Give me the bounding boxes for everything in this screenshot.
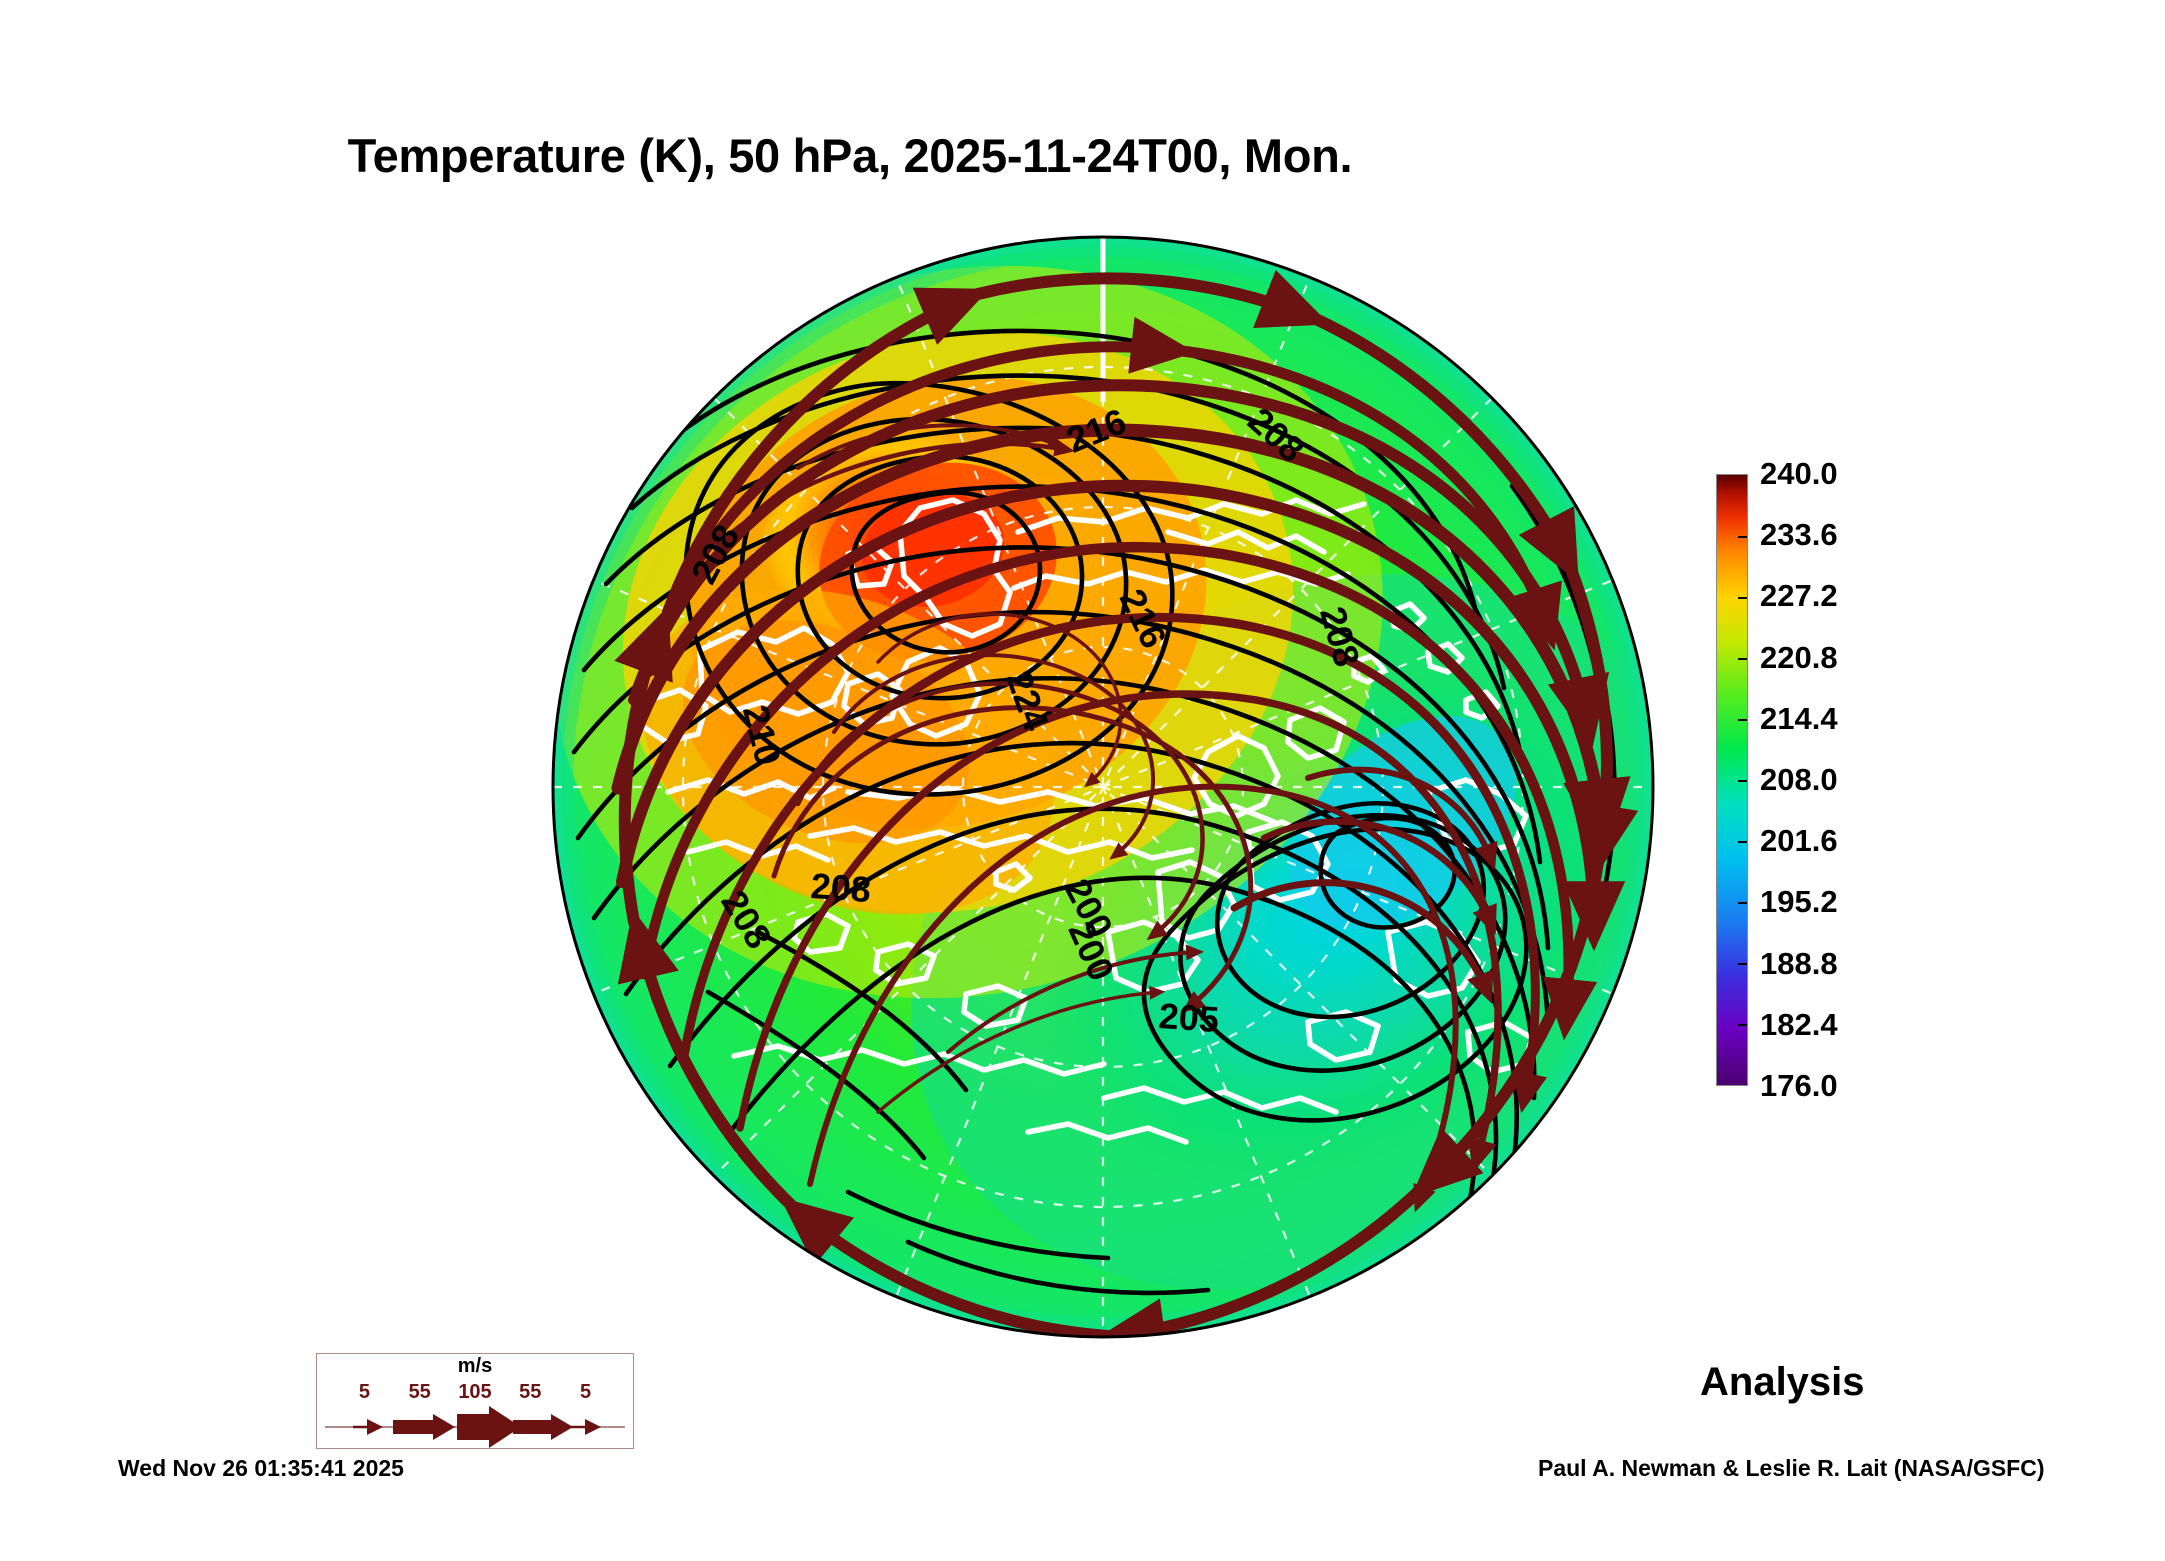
colorbar-tick <box>1738 780 1747 782</box>
colorbar-tick <box>1738 902 1747 904</box>
polar-map[interactable]: 2162162082082082082162162242242082082102… <box>548 232 1658 1342</box>
contour-label: 205 <box>1157 995 1220 1040</box>
wind-legend-value: 55 <box>519 1381 541 1404</box>
wind-units-label: m/s <box>317 1355 633 1378</box>
colorbar-label: 220.8 <box>1760 640 1838 676</box>
author-credit: Paul A. Newman & Leslie R. Lait (NASA/GS… <box>1538 1455 2045 1482</box>
colorbar-label: 214.4 <box>1760 701 1838 737</box>
wind-legend-value: 5 <box>580 1381 591 1404</box>
colorbar-label: 188.8 <box>1760 946 1838 982</box>
contour-label: 208 <box>809 865 872 910</box>
generation-timestamp: Wed Nov 26 01:35:41 2025 <box>118 1455 404 1482</box>
analysis-label: Analysis <box>1700 1360 1865 1405</box>
colorbar-label: 208.0 <box>1760 762 1838 798</box>
colorbar-label: 182.4 <box>1760 1007 1838 1043</box>
colorbar-tick <box>1738 597 1747 599</box>
wind-legend-arrows <box>317 1406 633 1448</box>
colorbar-label: 201.6 <box>1760 823 1838 859</box>
map-svg: 2162162082082082082162162242242082082102… <box>548 232 1658 1342</box>
colorbar[interactable] <box>1716 474 1748 1086</box>
colorbar-label: 233.6 <box>1760 517 1838 553</box>
figure-canvas: Temperature (K), 50 hPa, 2025-11-24T00, … <box>0 0 2165 1561</box>
colorbar-tick <box>1738 658 1747 660</box>
colorbar-ticks <box>1717 475 1747 1085</box>
wind-legend-value: 55 <box>409 1381 431 1404</box>
wind-legend-value: 105 <box>458 1381 491 1404</box>
colorbar-label: 240.0 <box>1760 456 1838 492</box>
colorbar-label: 195.2 <box>1760 884 1838 920</box>
wind-legend-value: 5 <box>359 1381 370 1404</box>
colorbar-label: 227.2 <box>1760 578 1838 614</box>
colorbar-tick <box>1738 536 1747 538</box>
colorbar-tick <box>1738 1024 1747 1026</box>
page-title: Temperature (K), 50 hPa, 2025-11-24T00, … <box>0 128 1700 183</box>
colorbar-label: 176.0 <box>1760 1068 1838 1104</box>
colorbar-tick <box>1738 963 1747 965</box>
wind-speed-legend[interactable]: m/s 555105555 <box>316 1353 634 1449</box>
wind-legend-values: 555105555 <box>317 1381 633 1407</box>
colorbar-tick <box>1738 719 1747 721</box>
colorbar-tick <box>1738 841 1747 843</box>
colorbar-labels: 240.0233.6227.2220.8214.4208.0201.6195.2… <box>1760 474 1930 1086</box>
